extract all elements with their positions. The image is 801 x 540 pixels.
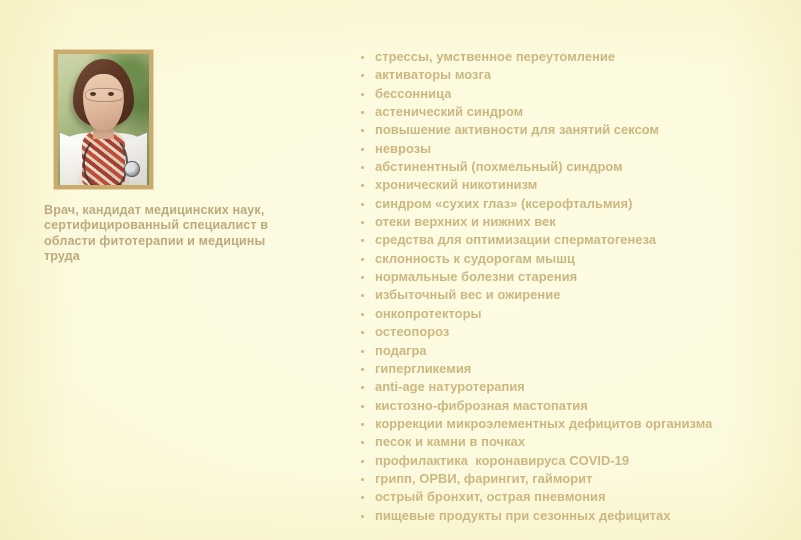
indication-list: стрессы, умственное переутомлениеактиват… xyxy=(357,48,789,525)
list-item: астенический синдром xyxy=(357,103,789,121)
list-item: хронический никотинизм xyxy=(357,176,789,194)
list-item: неврозы xyxy=(357,140,789,158)
portrait-column: Врач, кандидат медицинских наук, сертифи… xyxy=(44,50,306,264)
slide-canvas: Врач, кандидат медицинских наук, сертифи… xyxy=(0,0,801,540)
doctor-portrait-photo xyxy=(58,54,149,185)
portrait-lighting-overlay xyxy=(58,54,149,185)
list-item: бессонница xyxy=(357,85,789,103)
list-item: профилактика коронавируса COVID-19 xyxy=(357,452,789,470)
list-item: повышение активности для занятий сексом xyxy=(357,121,789,139)
list-item: склонность к судорогам мышц xyxy=(357,250,789,268)
list-item: пищевые продукты при сезонных дефицитах xyxy=(357,507,789,525)
list-item: остеопороз xyxy=(357,323,789,341)
list-item: нормальные болезни старения xyxy=(357,268,789,286)
list-item: anti-age натуротерапия xyxy=(357,378,789,396)
list-item: стрессы, умственное переутомление xyxy=(357,48,789,66)
list-item: песок и камни в почках xyxy=(357,433,789,451)
portrait-caption: Врач, кандидат медицинских наук, сертифи… xyxy=(44,203,302,264)
list-item: отеки верхних и нижних век xyxy=(357,213,789,231)
list-item: гипергликемия xyxy=(357,360,789,378)
list-item: подагра xyxy=(357,342,789,360)
portrait-frame xyxy=(54,50,153,189)
list-item: активаторы мозга xyxy=(357,66,789,84)
list-item: острый бронхит, острая пневмония xyxy=(357,488,789,506)
list-item: онкопротекторы xyxy=(357,305,789,323)
list-item: синдром «сухих глаз» (ксерофтальмия) xyxy=(357,195,789,213)
list-item: средства для оптимизации сперматогенеза xyxy=(357,231,789,249)
list-item: избыточный вес и ожирение xyxy=(357,286,789,304)
list-item: абстинентный (похмельный) синдром xyxy=(357,158,789,176)
list-item: грипп, ОРВИ, фарингит, гайморит xyxy=(357,470,789,488)
list-item: коррекции микроэлементных дефицитов орга… xyxy=(357,415,789,433)
list-item: кистозно-фиброзная мастопатия xyxy=(357,397,789,415)
